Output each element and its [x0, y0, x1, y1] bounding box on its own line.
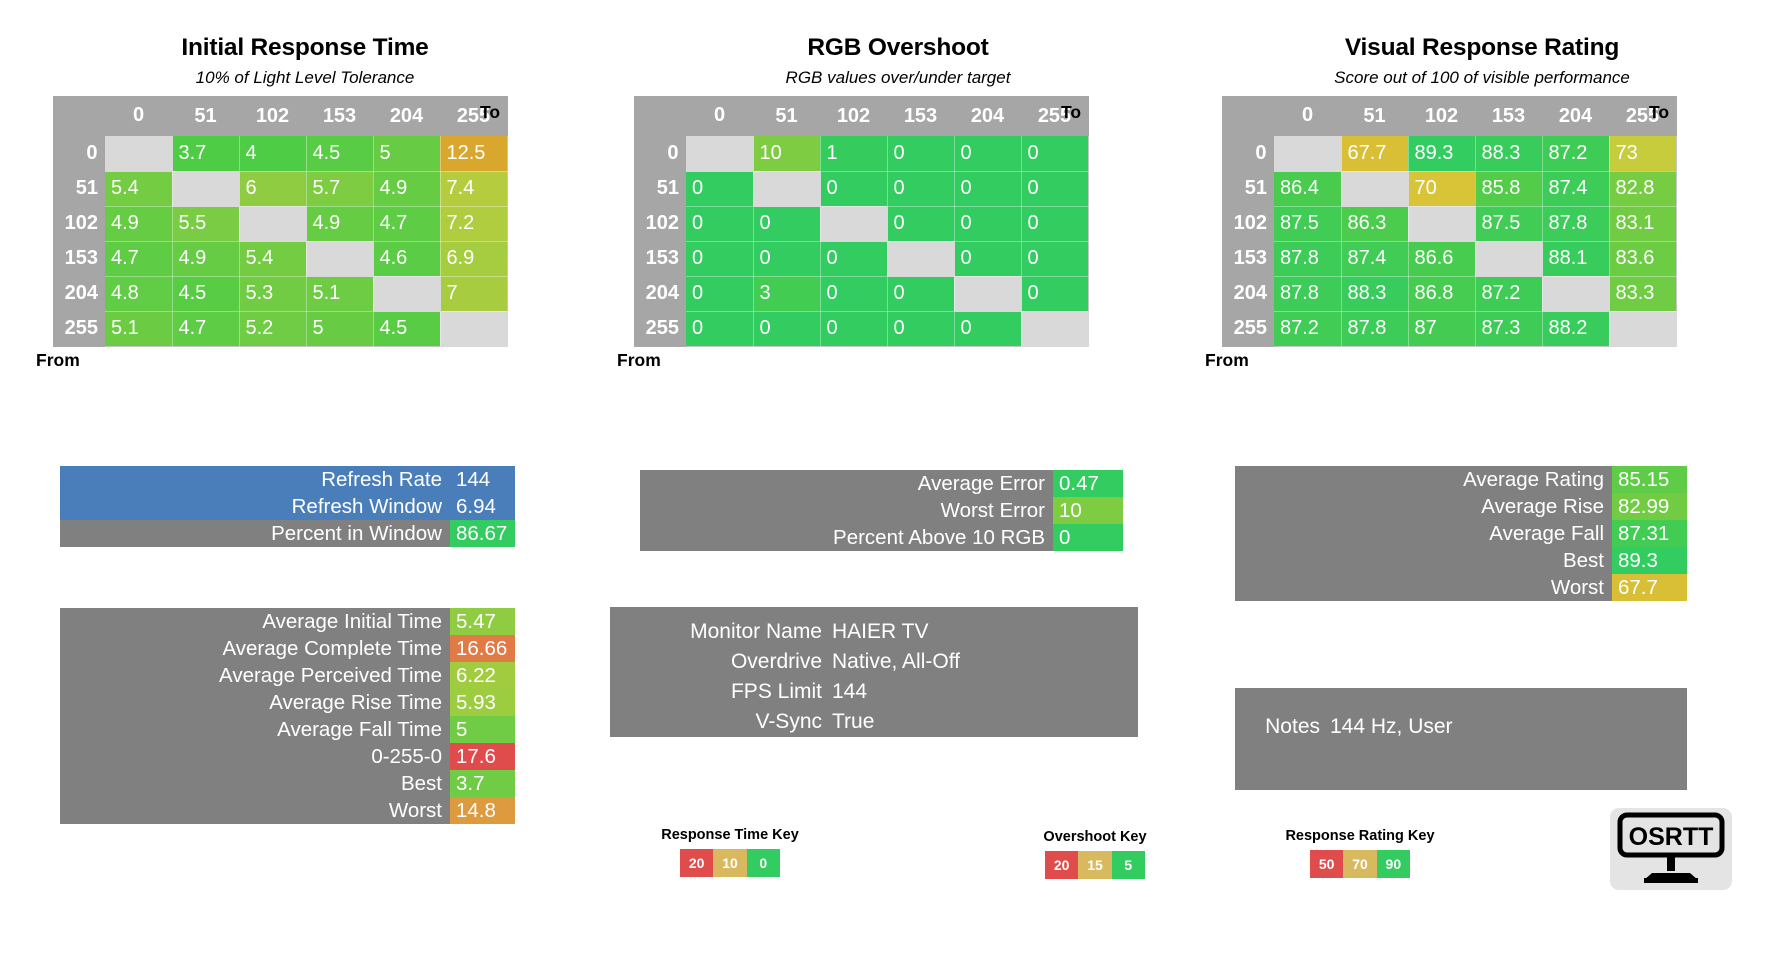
panel-refresh-summary: Refresh Rate144Refresh Window6.94Percent…: [60, 466, 515, 547]
panel-row-label: Worst: [60, 797, 450, 824]
matrix-cell: 0: [820, 171, 887, 206]
panel-row-label: Worst Error: [640, 497, 1053, 524]
panel-row: Average Rise82.99: [1235, 493, 1687, 520]
panel-row-label: Average Fall: [1235, 520, 1612, 547]
matrix-cell: 4.9: [373, 171, 440, 206]
matrix-cell: 87.2: [1274, 311, 1341, 346]
matrix-cell-blank: [1021, 311, 1088, 346]
matrix-row-header-153: 153: [1222, 241, 1274, 276]
matrix-col-header-102: 102: [820, 96, 887, 136]
panel-row-label: Best: [60, 770, 450, 797]
key-strip: 20155: [1045, 851, 1145, 879]
matrix-col-header-0: 0: [686, 96, 753, 136]
matrix-cell: 0: [686, 276, 753, 311]
matrix-cell: 5.4: [105, 171, 172, 206]
matrix-cell-blank: [820, 206, 887, 241]
matrix-cell: 7.4: [440, 171, 507, 206]
matrix-wrap-1: 05110215320425503.744.5512.5515.465.74.9…: [53, 96, 508, 347]
matrix-cell: 5.3: [239, 276, 306, 311]
panel-row-label: Average Fall Time: [60, 716, 450, 743]
panel-overshoot-summary: Average Error0.47Worst Error10Percent Ab…: [640, 470, 1123, 551]
matrix-cell: 0: [954, 171, 1021, 206]
key-title: Response Time Key: [640, 827, 820, 843]
key-title: Response Rating Key: [1245, 828, 1475, 844]
matrix-cell: 4.5: [306, 136, 373, 171]
matrix-cell: 4.7: [105, 241, 172, 276]
matrix-col-header-153: 153: [306, 96, 373, 136]
matrix-cell: 0: [1021, 171, 1088, 206]
matrix-row: 2555.14.75.254.5: [53, 311, 507, 346]
matrix-col-header-51: 51: [753, 96, 820, 136]
matrix-row-header-51: 51: [53, 171, 105, 206]
matrix-cell: 4.5: [172, 276, 239, 311]
matrix-cell: 4.7: [172, 311, 239, 346]
panel-row: Average Rating85.15: [1235, 466, 1687, 493]
matrix-cell: 0: [686, 311, 753, 346]
matrix-cell: 4.8: [105, 276, 172, 311]
matrix-cell: 0: [887, 136, 954, 171]
matrix-cell: 88.2: [1542, 311, 1609, 346]
heatmap-rgb-overshoot: 0511021532042550101000510000010200000153…: [634, 96, 1089, 347]
matrix-header-row: 051102153204255: [634, 96, 1088, 136]
info-row-label: FPS Limit: [610, 677, 832, 707]
info-row-value: HAIER TV: [832, 617, 1138, 647]
matrix-cell: 6.9: [440, 241, 507, 276]
matrix-col-header-51: 51: [1341, 96, 1408, 136]
panel-row-value: 5: [450, 716, 515, 743]
matrix-row: 20487.888.386.887.283.3: [1222, 276, 1676, 311]
panel-row-value: 85.15: [1612, 466, 1687, 493]
to-label-1: To: [480, 102, 500, 123]
panel-row-label: Worst: [1235, 574, 1612, 601]
matrix-cell: 0: [753, 206, 820, 241]
matrix-wrap-3: 051102153204255067.789.388.387.2735186.4…: [1222, 96, 1677, 347]
panel-rating-summary: Average Rating85.15Average Rise82.99Aver…: [1235, 466, 1687, 601]
panel-row: Average Initial Time5.47: [60, 608, 515, 635]
panel-row-value: 17.6: [450, 743, 515, 770]
matrix-corner: [53, 96, 105, 136]
matrix-cell: 4.9: [105, 206, 172, 241]
info-row: V-SyncTrue: [610, 707, 1138, 737]
matrix-cell: 4.6: [373, 241, 440, 276]
info-row-value: 144 Hz, User: [1330, 712, 1687, 742]
info-row: Notes144 Hz, User: [1235, 712, 1687, 742]
matrix-cell: 0: [686, 241, 753, 276]
matrix-cell: 5.1: [306, 276, 373, 311]
panel-row-label: Average Rise: [1235, 493, 1612, 520]
chart-title-2: RGB Overshoot: [601, 0, 1195, 62]
matrix-row: 20403000: [634, 276, 1088, 311]
matrix-cell: 4: [239, 136, 306, 171]
matrix-cell-blank: [686, 136, 753, 171]
key-response-rating: Response Rating Key507090: [1245, 828, 1475, 878]
matrix-row-header-204: 204: [1222, 276, 1274, 311]
panel-notes: Notes144 Hz, User: [1235, 688, 1687, 790]
panel-row-value: 144: [450, 466, 515, 493]
matrix-cell-blank: [373, 276, 440, 311]
matrix-cell: 1: [820, 136, 887, 171]
to-label-2: To: [1061, 102, 1081, 123]
matrix-row-header-0: 0: [53, 136, 105, 171]
matrix-col-header-102: 102: [1408, 96, 1475, 136]
panel-row-value: 6.22: [450, 662, 515, 689]
matrix-cell: 87: [1408, 311, 1475, 346]
matrix-cell: 5.5: [172, 206, 239, 241]
matrix-cell: 0: [820, 276, 887, 311]
panel-row: Average Complete Time16.66: [60, 635, 515, 662]
matrix-cell: 0: [1021, 241, 1088, 276]
panel-row-label: 0-255-0: [60, 743, 450, 770]
matrix-cell: 86.4: [1274, 171, 1341, 206]
matrix-cell: 67.7: [1341, 136, 1408, 171]
chart-title-3: Visual Response Rating: [1185, 0, 1779, 62]
key-strip: 20100: [680, 849, 780, 877]
panel-row: Average Fall Time5: [60, 716, 515, 743]
matrix-col-header-0: 0: [105, 96, 172, 136]
matrix-row-header-255: 255: [634, 311, 686, 346]
matrix-cell: 87.8: [1542, 206, 1609, 241]
matrix-row: 515.465.74.97.4: [53, 171, 507, 206]
key-cell: 10: [713, 849, 746, 877]
matrix-col-header-153: 153: [1475, 96, 1542, 136]
matrix-cell: 0: [954, 241, 1021, 276]
info-row-value: True: [832, 707, 1138, 737]
panel-row-label: Refresh Rate: [60, 466, 450, 493]
key-strip: 507090: [1310, 850, 1410, 878]
panel-row: Refresh Window6.94: [60, 493, 515, 520]
matrix-cell: 87.8: [1274, 276, 1341, 311]
matrix-row-header-255: 255: [1222, 311, 1274, 346]
panel-row-value: 86.67: [450, 520, 515, 547]
matrix-cell: 86.3: [1341, 206, 1408, 241]
matrix-cell-blank: [1542, 276, 1609, 311]
matrix-cell: 89.3: [1408, 136, 1475, 171]
key-cell: 70: [1343, 850, 1376, 878]
matrix-row: 10200000: [634, 206, 1088, 241]
panel-row-value: 3.7: [450, 770, 515, 797]
matrix-cell: 0: [753, 311, 820, 346]
info-row: Monitor NameHAIER TV: [610, 617, 1138, 647]
panel-row-label: Average Rating: [1235, 466, 1612, 493]
matrix-row: 1024.95.54.94.77.2: [53, 206, 507, 241]
matrix-cell: 87.8: [1274, 241, 1341, 276]
report-board: Initial Response Time 10% of Light Level…: [0, 0, 1784, 962]
panel-row: Average Error0.47: [640, 470, 1123, 497]
matrix-cell: 0: [1021, 136, 1088, 171]
info-row-label: V-Sync: [610, 707, 832, 737]
matrix-cell: 87.3: [1475, 311, 1542, 346]
matrix-cell: 4.5: [373, 311, 440, 346]
matrix-cell: 87.5: [1475, 206, 1542, 241]
matrix-row: 03.744.5512.5: [53, 136, 507, 171]
matrix-cell-blank: [1609, 311, 1676, 346]
matrix-row-header-102: 102: [1222, 206, 1274, 241]
matrix-cell: 0: [1021, 206, 1088, 241]
matrix-cell: 83.3: [1609, 276, 1676, 311]
matrix-cell: 0: [954, 206, 1021, 241]
panel-monitor-info: Monitor NameHAIER TVOverdriveNative, All…: [610, 607, 1138, 737]
matrix-row: 5100000: [634, 171, 1088, 206]
info-row-label: Monitor Name: [610, 617, 832, 647]
panel-row-label: Percent Above 10 RGB: [640, 524, 1053, 551]
matrix-header-row: 051102153204255: [1222, 96, 1676, 136]
matrix-row: 10287.586.387.587.883.1: [1222, 206, 1676, 241]
panel-row-label: Average Rise Time: [60, 689, 450, 716]
matrix-cell: 0: [820, 311, 887, 346]
info-row-label: Notes: [1235, 712, 1330, 742]
info-row-value: Native, All-Off: [832, 647, 1138, 677]
heatmap-visual-response-rating: 051102153204255067.789.388.387.2735186.4…: [1222, 96, 1677, 347]
matrix-row-header-204: 204: [634, 276, 686, 311]
matrix-col-header-204: 204: [954, 96, 1021, 136]
osrtt-logo: OSRTT: [1610, 808, 1732, 890]
matrix-row: 25500000: [634, 311, 1088, 346]
matrix-cell-blank: [105, 136, 172, 171]
matrix-cell: 87.5: [1274, 206, 1341, 241]
key-cell: 50: [1310, 850, 1343, 878]
panel-row-value: 10: [1053, 497, 1123, 524]
matrix-row-header-153: 153: [634, 241, 686, 276]
matrix-cell: 5.7: [306, 171, 373, 206]
panel-row-value: 14.8: [450, 797, 515, 824]
matrix-col-header-153: 153: [887, 96, 954, 136]
panel-row-value: 16.66: [450, 635, 515, 662]
key-cell: 0: [747, 849, 780, 877]
matrix-cell: 87.4: [1542, 171, 1609, 206]
panel-row: Worst Error10: [640, 497, 1123, 524]
matrix-corner: [1222, 96, 1274, 136]
panel-row: Best89.3: [1235, 547, 1687, 574]
panel-row: Worst67.7: [1235, 574, 1687, 601]
matrix-row-header-102: 102: [634, 206, 686, 241]
from-label-3: From: [1205, 350, 1249, 371]
chart-subtitle-3: Score out of 100 of visible performance: [1185, 62, 1779, 88]
matrix-cell: 10: [753, 136, 820, 171]
info-row-label: Overdrive: [610, 647, 832, 677]
matrix-cell: 86.6: [1408, 241, 1475, 276]
chart-title-1: Initial Response Time: [8, 0, 602, 62]
matrix-row: 067.789.388.387.273: [1222, 136, 1676, 171]
matrix-cell: 87.8: [1341, 311, 1408, 346]
matrix-cell: 70: [1408, 171, 1475, 206]
panel-row-label: Refresh Window: [60, 493, 450, 520]
matrix-cell-blank: [440, 311, 507, 346]
matrix-cell: 7.2: [440, 206, 507, 241]
panel-row-label: Average Initial Time: [60, 608, 450, 635]
matrix-cell: 86.8: [1408, 276, 1475, 311]
matrix-cell: 3: [753, 276, 820, 311]
key-title: Overshoot Key: [1005, 829, 1185, 845]
matrix-col-header-0: 0: [1274, 96, 1341, 136]
matrix-cell: 0: [887, 171, 954, 206]
matrix-col-header-102: 102: [239, 96, 306, 136]
matrix-cell: 6: [239, 171, 306, 206]
matrix-cell: 0: [820, 241, 887, 276]
matrix-cell: 4.7: [373, 206, 440, 241]
panel-response-times: Average Initial Time5.47Average Complete…: [60, 608, 515, 824]
matrix-row-header-153: 153: [53, 241, 105, 276]
panel-row-value: 5.47: [450, 608, 515, 635]
panel-row: Percent in Window86.67: [60, 520, 515, 547]
matrix-cell: 0: [753, 241, 820, 276]
panel-row: Average Rise Time5.93: [60, 689, 515, 716]
key-cell: 20: [680, 849, 713, 877]
panel-row: Percent Above 10 RGB0: [640, 524, 1123, 551]
panel-row: 0-255-017.6: [60, 743, 515, 770]
matrix-cell: 7: [440, 276, 507, 311]
matrix-cell: 88.3: [1341, 276, 1408, 311]
matrix-cell: 73: [1609, 136, 1676, 171]
info-row: FPS Limit144: [610, 677, 1138, 707]
osrtt-logo-graphic: OSRTT: [1610, 808, 1732, 890]
panel-row: Best3.7: [60, 770, 515, 797]
matrix-cell: 88.1: [1542, 241, 1609, 276]
matrix-cell: 5.4: [239, 241, 306, 276]
matrix-cell: 0: [686, 206, 753, 241]
panel-row-value: 5.93: [450, 689, 515, 716]
matrix-row: 25587.287.88787.388.2: [1222, 311, 1676, 346]
matrix-cell: 83.6: [1609, 241, 1676, 276]
panel-row: Refresh Rate144: [60, 466, 515, 493]
matrix-corner: [634, 96, 686, 136]
matrix-cell: 87.2: [1475, 276, 1542, 311]
matrix-cell: 0: [954, 136, 1021, 171]
chart-subtitle-1: 10% of Light Level Tolerance: [8, 62, 602, 88]
matrix-cell-blank: [306, 241, 373, 276]
info-row-value: 144: [832, 677, 1138, 707]
matrix-row-header-102: 102: [53, 206, 105, 241]
matrix-cell-blank: [887, 241, 954, 276]
panel-row: Average Fall87.31: [1235, 520, 1687, 547]
matrix-row-header-51: 51: [1222, 171, 1274, 206]
from-label-1: From: [36, 350, 80, 371]
matrix-cell: 87.4: [1341, 241, 1408, 276]
key-cell: 20: [1045, 851, 1078, 879]
matrix-row: 1534.74.95.44.66.9: [53, 241, 507, 276]
matrix-row: 5186.47085.887.482.8: [1222, 171, 1676, 206]
matrix-row-header-0: 0: [1222, 136, 1274, 171]
matrix-cell: 0: [887, 311, 954, 346]
matrix-cell-blank: [1475, 241, 1542, 276]
matrix-col-header-51: 51: [172, 96, 239, 136]
to-label-3: To: [1649, 102, 1669, 123]
matrix-cell: 87.2: [1542, 136, 1609, 171]
panel-row-value: 89.3: [1612, 547, 1687, 574]
matrix-cell: 0: [887, 206, 954, 241]
panel-row-label: Average Error: [640, 470, 1053, 497]
matrix-row-header-0: 0: [634, 136, 686, 171]
matrix-col-header-204: 204: [373, 96, 440, 136]
panel-row-value: 87.31: [1612, 520, 1687, 547]
matrix-cell: 82.8: [1609, 171, 1676, 206]
matrix-cell: 0: [954, 311, 1021, 346]
matrix-row: 0101000: [634, 136, 1088, 171]
matrix-cell-blank: [239, 206, 306, 241]
matrix-cell: 5.1: [105, 311, 172, 346]
matrix-cell: 5: [306, 311, 373, 346]
matrix-row: 15300000: [634, 241, 1088, 276]
svg-text:OSRTT: OSRTT: [1629, 823, 1714, 851]
key-cell: 15: [1078, 851, 1111, 879]
panel-row-value: 0.47: [1053, 470, 1123, 497]
matrix-row: 15387.887.486.688.183.6: [1222, 241, 1676, 276]
matrix-header-row: 051102153204255: [53, 96, 507, 136]
matrix-cell: 88.3: [1475, 136, 1542, 171]
matrix-cell-blank: [1408, 206, 1475, 241]
panel-row-value: 82.99: [1612, 493, 1687, 520]
panel-row-label: Best: [1235, 547, 1612, 574]
matrix-cell: 5: [373, 136, 440, 171]
matrix-row-header-204: 204: [53, 276, 105, 311]
matrix-cell-blank: [1274, 136, 1341, 171]
matrix-row-header-51: 51: [634, 171, 686, 206]
matrix-cell: 0: [887, 276, 954, 311]
matrix-cell: 0: [1021, 276, 1088, 311]
heatmap-initial-response-time: 05110215320425503.744.5512.5515.465.74.9…: [53, 96, 508, 347]
panel-row-value: 6.94: [450, 493, 515, 520]
matrix-cell: 3.7: [172, 136, 239, 171]
matrix-cell: 85.8: [1475, 171, 1542, 206]
matrix-cell: 12.5: [440, 136, 507, 171]
key-cell: 5: [1112, 851, 1145, 879]
matrix-cell-blank: [753, 171, 820, 206]
matrix-row: 2044.84.55.35.17: [53, 276, 507, 311]
key-response-time: Response Time Key20100: [640, 827, 820, 877]
matrix-cell: 4.9: [306, 206, 373, 241]
panel-row: Average Perceived Time6.22: [60, 662, 515, 689]
matrix-cell: 0: [686, 171, 753, 206]
matrix-cell-blank: [1341, 171, 1408, 206]
matrix-cell-blank: [172, 171, 239, 206]
matrix-cell-blank: [954, 276, 1021, 311]
matrix-col-header-204: 204: [1542, 96, 1609, 136]
panel-row-label: Average Complete Time: [60, 635, 450, 662]
key-cell: 90: [1377, 850, 1410, 878]
matrix-cell: 4.9: [172, 241, 239, 276]
panel-row-value: 0: [1053, 524, 1123, 551]
panel-row-label: Average Perceived Time: [60, 662, 450, 689]
panel-row: Worst14.8: [60, 797, 515, 824]
matrix-row-header-255: 255: [53, 311, 105, 346]
matrix-cell: 83.1: [1609, 206, 1676, 241]
from-label-2: From: [617, 350, 661, 371]
key-overshoot: Overshoot Key20155: [1005, 829, 1185, 879]
matrix-cell: 5.2: [239, 311, 306, 346]
panel-row-value: 67.7: [1612, 574, 1687, 601]
info-row: OverdriveNative, All-Off: [610, 647, 1138, 677]
chart-subtitle-2: RGB values over/under target: [601, 62, 1195, 88]
panel-row-label: Percent in Window: [60, 520, 450, 547]
matrix-wrap-2: 0511021532042550101000510000010200000153…: [634, 96, 1089, 347]
